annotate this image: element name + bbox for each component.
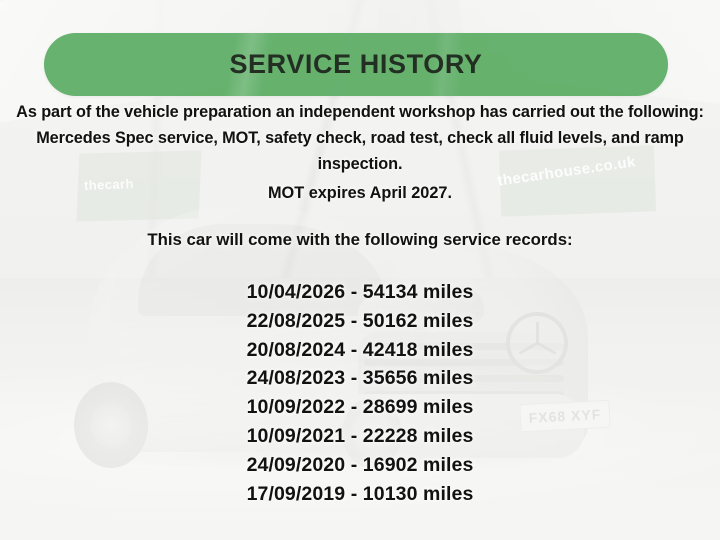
page-title: SERVICE HISTORY [229, 49, 482, 80]
mot-expiry-line: MOT expires April 2027. [0, 181, 720, 205]
service-records-list: 10/04/2026 - 54134 miles 22/08/2025 - 50… [0, 278, 720, 508]
service-record-row: 10/09/2022 - 28699 miles [0, 393, 720, 422]
content-block: As part of the vehicle preparation an in… [0, 99, 720, 508]
service-record-row: 17/09/2019 - 10130 miles [0, 480, 720, 509]
service-record-row: 24/09/2020 - 16902 miles [0, 451, 720, 480]
service-record-row: 10/04/2026 - 54134 miles [0, 278, 720, 307]
intro-paragraph: As part of the vehicle preparation an in… [0, 99, 720, 177]
records-heading: This car will come with the following se… [0, 229, 720, 251]
service-history-banner: SERVICE HISTORY [44, 33, 668, 96]
service-record-row: 10/09/2021 - 22228 miles [0, 422, 720, 451]
service-record-row: 24/08/2023 - 35656 miles [0, 364, 720, 393]
service-record-row: 20/08/2024 - 42418 miles [0, 336, 720, 365]
service-history-slide: FX68 XYF thecarh thecarhouse.co.uk SERVI… [0, 0, 720, 540]
service-record-row: 22/08/2025 - 50162 miles [0, 307, 720, 336]
